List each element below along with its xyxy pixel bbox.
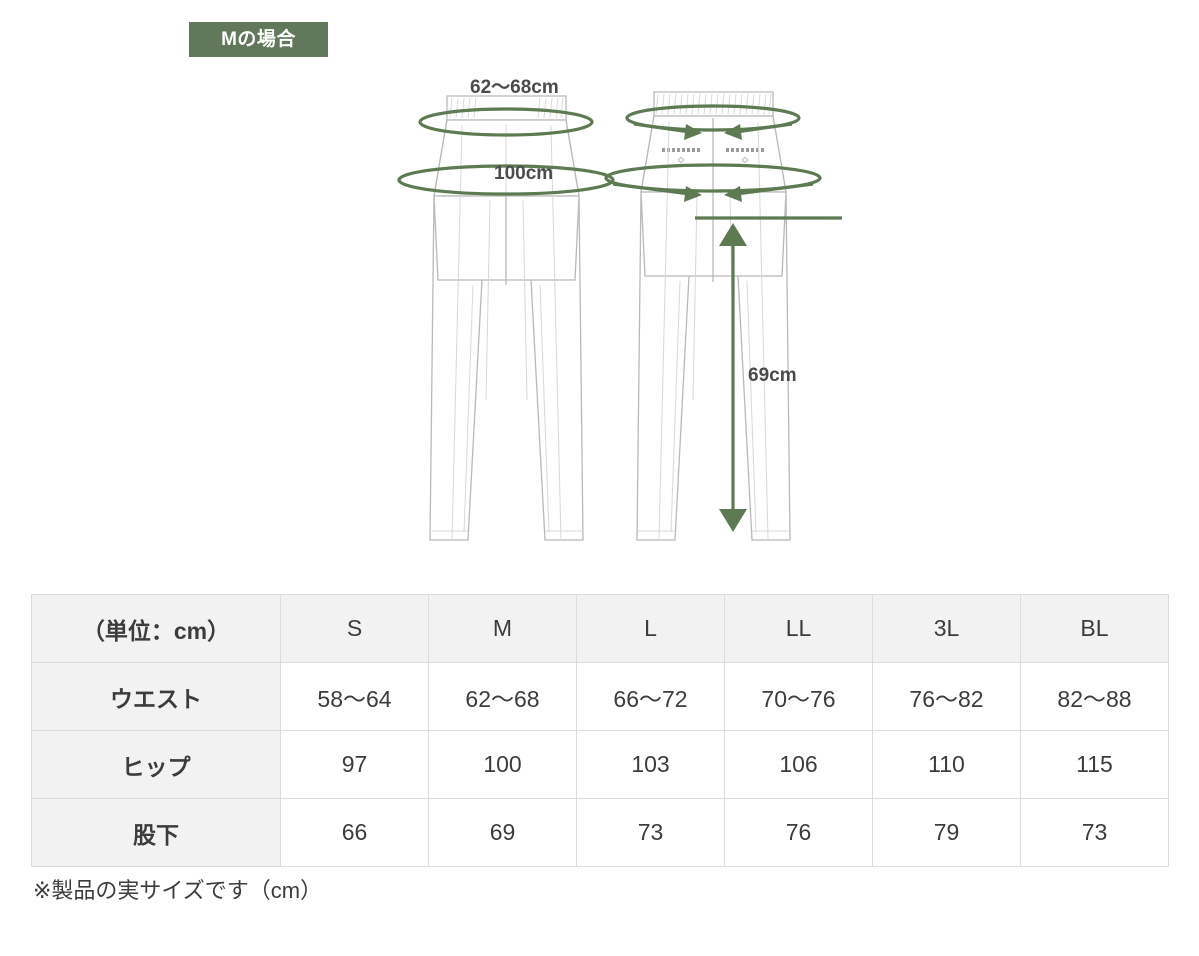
row-label-inseam: 股下 xyxy=(32,799,281,867)
size-header-s: S xyxy=(281,595,429,663)
hip-value-3l: 110 xyxy=(873,731,1021,799)
inseam-value-3l: 79 xyxy=(873,799,1021,867)
row-label-waist: ウエスト xyxy=(32,663,281,731)
unit-header-cell: （単位：cm） xyxy=(32,595,281,663)
inseam-value-bl: 73 xyxy=(1021,799,1169,867)
table-row: ヒップ 97 100 103 106 110 115 xyxy=(32,731,1169,799)
size-case-badge: Mの場合 xyxy=(189,22,328,57)
size-header-3l: 3L xyxy=(873,595,1021,663)
row-label-hip: ヒップ xyxy=(32,731,281,799)
footnote-text: ※製品の実サイズです（cm） xyxy=(33,880,322,902)
inseam-value-s: 66 xyxy=(281,799,429,867)
waist-value-ll: 70〜76 xyxy=(725,663,873,731)
inseam-value-ll: 76 xyxy=(725,799,873,867)
waist-dimension-label: 62〜68cm xyxy=(470,78,559,97)
table-row: 股下 66 69 73 76 79 73 xyxy=(32,799,1169,867)
size-header-bl: BL xyxy=(1021,595,1169,663)
inseam-value-m: 69 xyxy=(429,799,577,867)
table-header-row: （単位：cm） S M L LL 3L BL xyxy=(32,595,1169,663)
hip-value-ll: 106 xyxy=(725,731,873,799)
hip-value-bl: 115 xyxy=(1021,731,1169,799)
size-case-badge-label: Mの場合 xyxy=(221,30,296,49)
waist-value-m: 62〜68 xyxy=(429,663,577,731)
waist-value-s: 58〜64 xyxy=(281,663,429,731)
table-row: ウエスト 58〜64 62〜68 66〜72 70〜76 76〜82 82〜88 xyxy=(32,663,1169,731)
hip-dimension-label: 100cm xyxy=(494,164,553,183)
size-header-l: L xyxy=(577,595,725,663)
size-header-ll: LL xyxy=(725,595,873,663)
waist-value-bl: 82〜88 xyxy=(1021,663,1169,731)
size-chart-table: （単位：cm） S M L LL 3L BL ウエスト 58〜64 62〜68 … xyxy=(31,594,1169,867)
inseam-value-l: 73 xyxy=(577,799,725,867)
waist-value-3l: 76〜82 xyxy=(873,663,1021,731)
inseam-dimension-label: 69cm xyxy=(748,366,797,385)
size-header-m: M xyxy=(429,595,577,663)
hip-value-s: 97 xyxy=(281,731,429,799)
hip-value-l: 103 xyxy=(577,731,725,799)
waist-value-l: 66〜72 xyxy=(577,663,725,731)
pants-back-icon xyxy=(637,92,790,540)
pants-measurement-illustration: .pl { fill: none; stroke: #b9b9b9; strok… xyxy=(390,70,870,565)
hip-value-m: 100 xyxy=(429,731,577,799)
